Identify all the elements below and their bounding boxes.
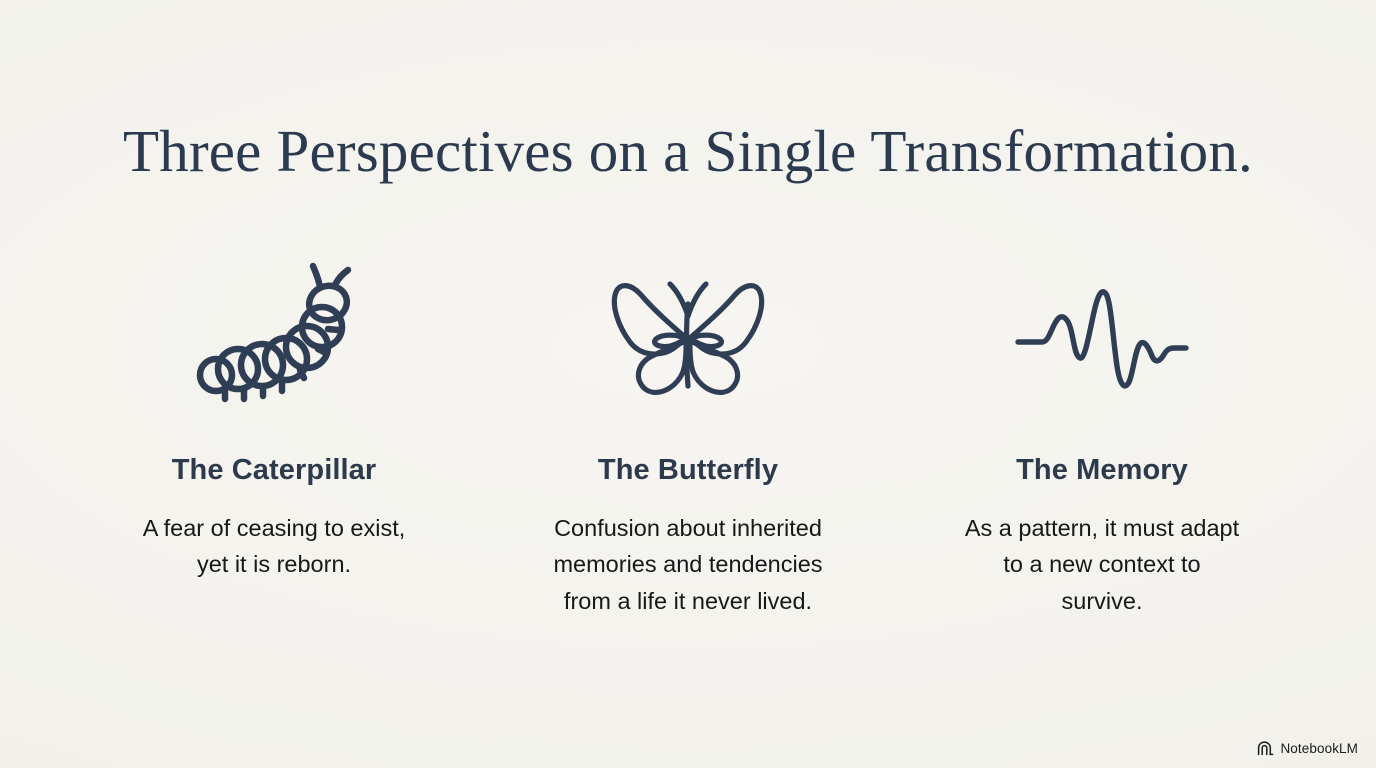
caterpillar-icon <box>174 272 374 404</box>
perspective-title: The Caterpillar <box>172 453 377 488</box>
notebooklm-watermark: NotebookLM <box>1257 741 1358 756</box>
perspective-title: The Butterfly <box>598 453 778 488</box>
perspective-column-memory: The Memory As a pattern, it must adapt t… <box>902 272 1302 620</box>
notebooklm-logo-icon <box>1257 741 1274 756</box>
waveform-icon <box>1002 272 1202 404</box>
perspective-column-caterpillar: The Caterpillar A fear of ceasing to exi… <box>74 272 474 583</box>
page-title: Three Perspectives on a Single Transform… <box>0 118 1376 186</box>
perspective-body: As a pattern, it must adapt to a new con… <box>965 510 1239 620</box>
slide-canvas: Three Perspectives on a Single Transform… <box>0 0 1376 768</box>
perspective-body: Confusion about inherited memories and t… <box>553 510 822 620</box>
perspective-body: A fear of ceasing to exist, yet it is re… <box>143 510 406 583</box>
perspective-column-butterfly: The Butterfly Confusion about inherited … <box>488 272 888 620</box>
perspectives-columns: The Caterpillar A fear of ceasing to exi… <box>74 272 1302 620</box>
notebooklm-label: NotebookLM <box>1280 741 1358 756</box>
butterfly-icon <box>588 272 788 404</box>
perspective-title: The Memory <box>1016 453 1188 488</box>
